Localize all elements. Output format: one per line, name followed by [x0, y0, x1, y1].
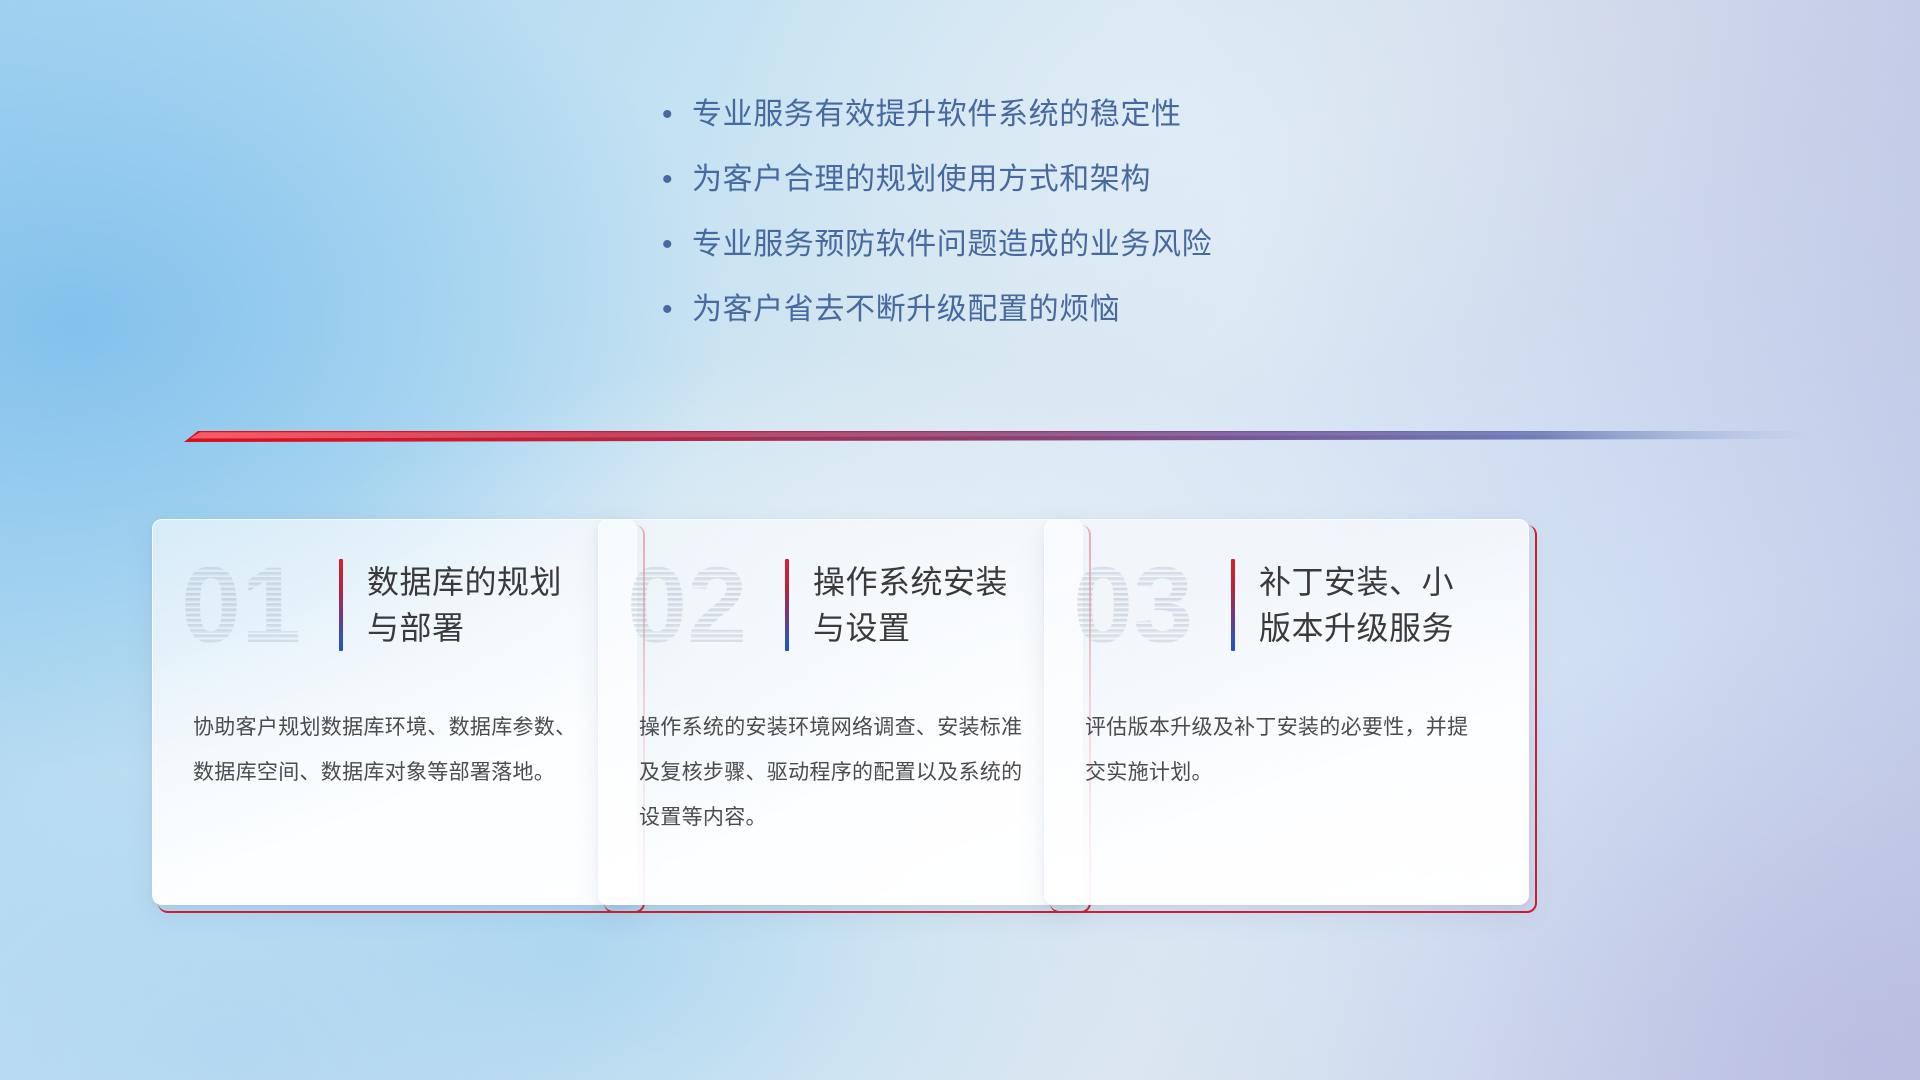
list-item: • 为客户合理的规划使用方式和架构	[660, 157, 1480, 222]
bullet-text: 专业服务有效提升软件系统的稳定性	[692, 92, 1182, 138]
list-item: • 专业服务预防软件问题造成的业务风险	[660, 222, 1480, 287]
card-number-striped: 03	[1071, 546, 1219, 664]
card-surface: 03 补丁安装、小 版本升级服务 评估版本升级及补丁安装的必要性，并提交实施计划…	[1044, 519, 1529, 905]
service-card[interactable]: 02 操作系统安装 与设置 操作系统的安装环境网络调查、安装标准及复核步骤、驱动…	[598, 519, 1091, 913]
card-description: 评估版本升级及补丁安装的必要性，并提交实施计划。	[1085, 705, 1485, 795]
service-card[interactable]: 03 补丁安装、小 版本升级服务 评估版本升级及补丁安装的必要性，并提交实施计划…	[1044, 519, 1537, 913]
card-title: 补丁安装、小 版本升级服务	[1259, 559, 1454, 651]
divider-wedge-icon	[150, 418, 1810, 454]
card-title-line-1: 数据库的规划	[367, 559, 562, 605]
list-item: • 专业服务有效提升软件系统的稳定性	[660, 92, 1480, 157]
striped-number-icon: 03	[1071, 546, 1219, 664]
bullet-marker-icon: •	[660, 287, 692, 333]
card-description: 协助客户规划数据库环境、数据库参数、数据库空间、数据库对象等部署落地。	[193, 705, 593, 795]
card-title-line-1: 补丁安装、小	[1259, 559, 1454, 605]
striped-number-icon: 02	[625, 546, 773, 664]
bullet-text: 专业服务预防软件问题造成的业务风险	[692, 222, 1212, 268]
card-title: 操作系统安装 与设置	[813, 559, 1008, 651]
card-title-line-2: 与部署	[367, 605, 562, 651]
card-title-line-2: 版本升级服务	[1259, 605, 1454, 651]
bullet-text: 为客户合理的规划使用方式和架构	[692, 157, 1151, 203]
card-surface: 02 操作系统安装 与设置 操作系统的安装环境网络调查、安装标准及复核步骤、驱动…	[598, 519, 1083, 905]
card-number-text: 03	[1073, 546, 1193, 664]
card-description: 操作系统的安装环境网络调查、安装标准及复核步骤、驱动程序的配置以及系统的设置等内…	[639, 705, 1039, 840]
card-header: 02 操作系统安装 与设置	[599, 540, 1082, 670]
service-cards-row: 01 数据库的规划 与部署 协助客户规划数据库环境、数据库参数、数据库空间、数据…	[0, 519, 1920, 919]
card-title-line-2: 与设置	[813, 605, 1008, 651]
section-divider	[150, 418, 1810, 454]
card-title-divider-bar	[785, 559, 789, 651]
card-title-line-1: 操作系统安装	[813, 559, 1008, 605]
striped-number-icon: 01	[179, 546, 327, 664]
benefits-bullet-list: • 专业服务有效提升软件系统的稳定性 • 为客户合理的规划使用方式和架构 • 专…	[660, 92, 1480, 352]
bullet-text: 为客户省去不断升级配置的烦恼	[692, 287, 1120, 333]
card-surface: 01 数据库的规划 与部署 协助客户规划数据库环境、数据库参数、数据库空间、数据…	[152, 519, 637, 905]
card-title-divider-bar	[339, 559, 343, 651]
card-number-striped: 01	[179, 546, 327, 664]
card-title: 数据库的规划 与部署	[367, 559, 562, 651]
card-number-text: 01	[181, 546, 301, 664]
card-number-striped: 02	[625, 546, 773, 664]
card-title-divider-bar	[1231, 559, 1235, 651]
card-number-text: 02	[627, 546, 747, 664]
card-header: 03 补丁安装、小 版本升级服务	[1045, 540, 1528, 670]
service-card[interactable]: 01 数据库的规划 与部署 协助客户规划数据库环境、数据库参数、数据库空间、数据…	[152, 519, 645, 913]
bullet-marker-icon: •	[660, 157, 692, 203]
card-header: 01 数据库的规划 与部署	[153, 540, 636, 670]
list-item: • 为客户省去不断升级配置的烦恼	[660, 287, 1480, 352]
bullet-marker-icon: •	[660, 92, 692, 138]
bullet-marker-icon: •	[660, 222, 692, 268]
